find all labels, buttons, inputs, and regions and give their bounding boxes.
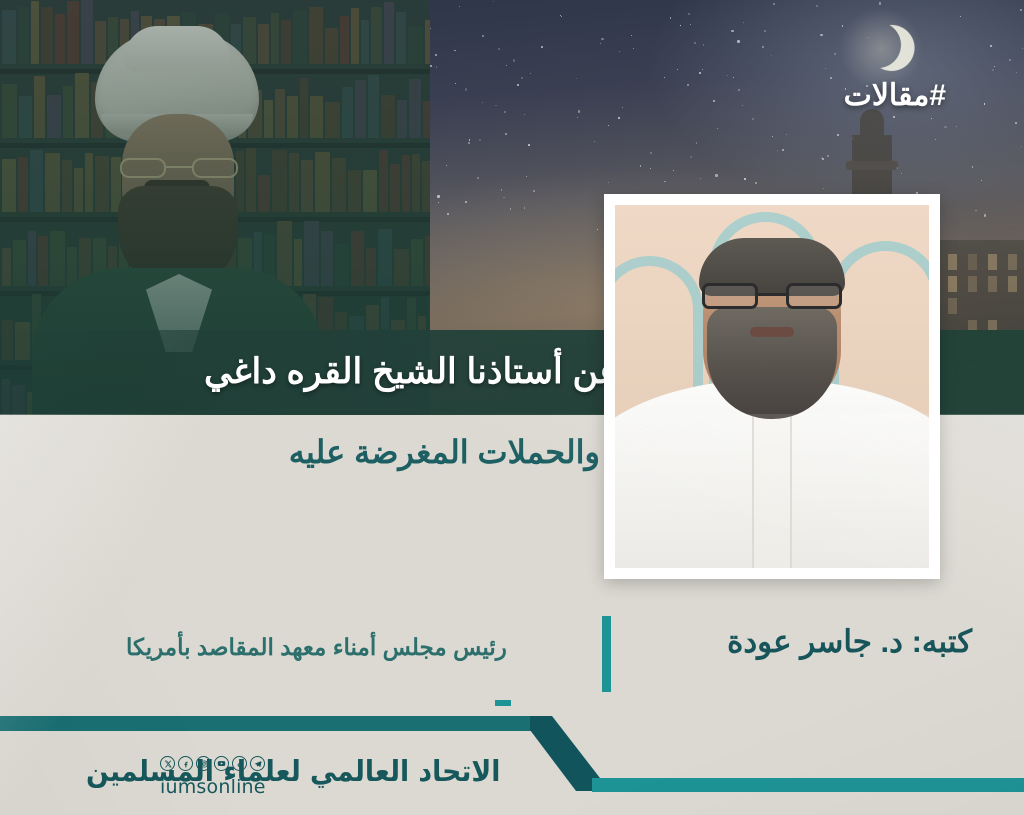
rule-diagonal-bar xyxy=(530,716,600,791)
author-figure xyxy=(615,205,929,568)
author-thobe-placket xyxy=(752,408,792,568)
author-mouth xyxy=(750,327,794,337)
youtube-icon[interactable] xyxy=(214,756,229,771)
footer-logo-block: الاتحاد العالمي لعلماء المسلمين iumsonli… xyxy=(160,752,500,808)
instagram-icon[interactable] xyxy=(196,756,211,771)
organization-calligraphy-logo: الاتحاد العالمي لعلماء المسلمين xyxy=(86,754,500,788)
x-twitter-icon[interactable] xyxy=(160,756,175,771)
social-icons-row[interactable] xyxy=(160,756,265,771)
article-title-line-1: عن أستاذنا الشيخ القره داغي xyxy=(0,335,620,409)
article-poster: #مقالات عن أستاذنا الشيخ القره داغي والح… xyxy=(0,0,1024,815)
author-photo xyxy=(615,205,929,568)
social-handle-label: iumsonline xyxy=(160,776,266,798)
byline-author-name: كتبه: د. جاسر عودة xyxy=(727,624,972,660)
author-eyeglasses-icon xyxy=(702,283,842,309)
rule-upper-bar xyxy=(0,716,540,731)
telegram-icon[interactable] xyxy=(250,756,265,771)
byline-author-role: رئيس مجلس أمناء معهد المقاصد بأمريكا xyxy=(126,634,507,661)
rule-lower-bar xyxy=(592,778,1024,792)
article-title-line-2: والحملات المغرضة عليه xyxy=(0,424,600,480)
tiktok-icon[interactable] xyxy=(232,756,247,771)
facebook-icon[interactable] xyxy=(178,756,193,771)
author-photo-frame xyxy=(604,194,940,579)
hashtag-label: #مقالات xyxy=(844,78,946,113)
byline-divider xyxy=(602,616,611,692)
